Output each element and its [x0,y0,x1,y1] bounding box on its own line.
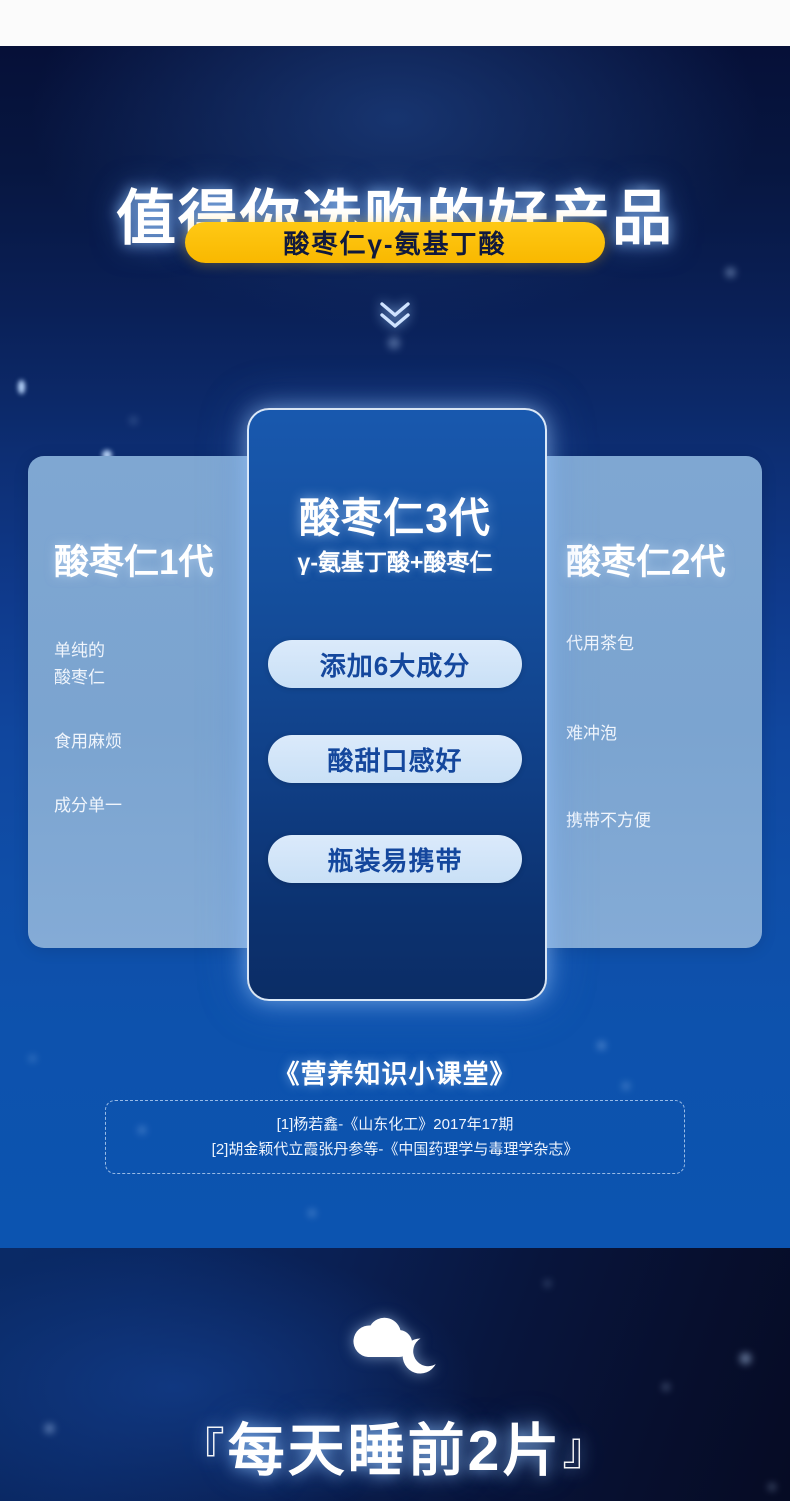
list-item: 成分单一 [54,792,122,819]
reference-entry: [2]胡金颖代立霞张丹参等-《中国药理学与毒理学杂志》 [212,1137,579,1162]
list-item: 携带不方便 [566,807,651,834]
background-particle [309,1210,315,1216]
gen2-point-line1: 代用茶包 [566,634,634,653]
feature-pill-ingredients: 添加6大成分 [268,640,522,688]
gen3-card-subtitle: γ-氨基丁酸+酸枣仁 [0,543,790,577]
cloud-moon-icon [340,1311,450,1381]
close-bracket: 』 [562,1425,609,1474]
background-particle [18,380,25,394]
list-item: 代用茶包 [566,630,651,657]
list-item: 难冲泡 [566,720,651,747]
top-white-strip [0,0,790,46]
references-box: [1]杨若鑫-《山东化工》2017年17期 [2]胡金颖代立霞张丹参等-《中国药… [105,1100,685,1174]
bedtime-instruction: 『每天睡前2片』 [0,1405,790,1487]
bedtime-instruction-text: 每天睡前2片 [228,1419,563,1483]
product-name-badge: 酸枣仁γ-氨基丁酸 [185,222,605,263]
background-particle [663,1384,669,1390]
open-bracket: 『 [181,1425,228,1474]
list-item: 单纯的 [54,637,122,664]
scroll-hint[interactable] [0,298,790,332]
list-item: 食用麻烦 [54,728,122,755]
product-detail-page: 值得你选购的好产品 酸枣仁γ-氨基丁酸 酸枣仁1代 酸枣仁2代 单纯的 酸枣仁 … [0,0,790,1501]
gen2-point-line3: 携带不方便 [566,811,651,830]
gen2-points-list: 代用茶包 难冲泡 携带不方便 [566,630,651,834]
gen1-points-list: 单纯的 酸枣仁 食用麻烦 成分单一 [54,637,122,856]
background-particle [598,1042,605,1049]
background-particle [545,1281,550,1286]
gen1-point-line4: 成分单一 [54,796,122,815]
double-chevron-down-icon [374,298,416,332]
bedtime-indicator [0,1311,790,1381]
gen2-point-line2: 难冲泡 [566,724,617,743]
gen1-point-line1: 单纯的 [54,641,105,660]
background-particle [726,268,735,277]
background-particle [131,418,136,423]
list-item: 酸枣仁 [54,664,122,691]
references-title: 《营养知识小课堂》 [0,1054,790,1091]
background-particle [388,337,400,349]
gen1-point-line2: 酸枣仁 [54,668,105,687]
feature-pill-portable: 瓶装易携带 [268,835,522,883]
reference-entry: [1]杨若鑫-《山东化工》2017年17期 [277,1112,514,1137]
gen3-card-title: 酸枣仁3代 [0,484,790,544]
feature-pill-taste: 酸甜口感好 [268,735,522,783]
gen1-point-line3: 食用麻烦 [54,732,122,751]
